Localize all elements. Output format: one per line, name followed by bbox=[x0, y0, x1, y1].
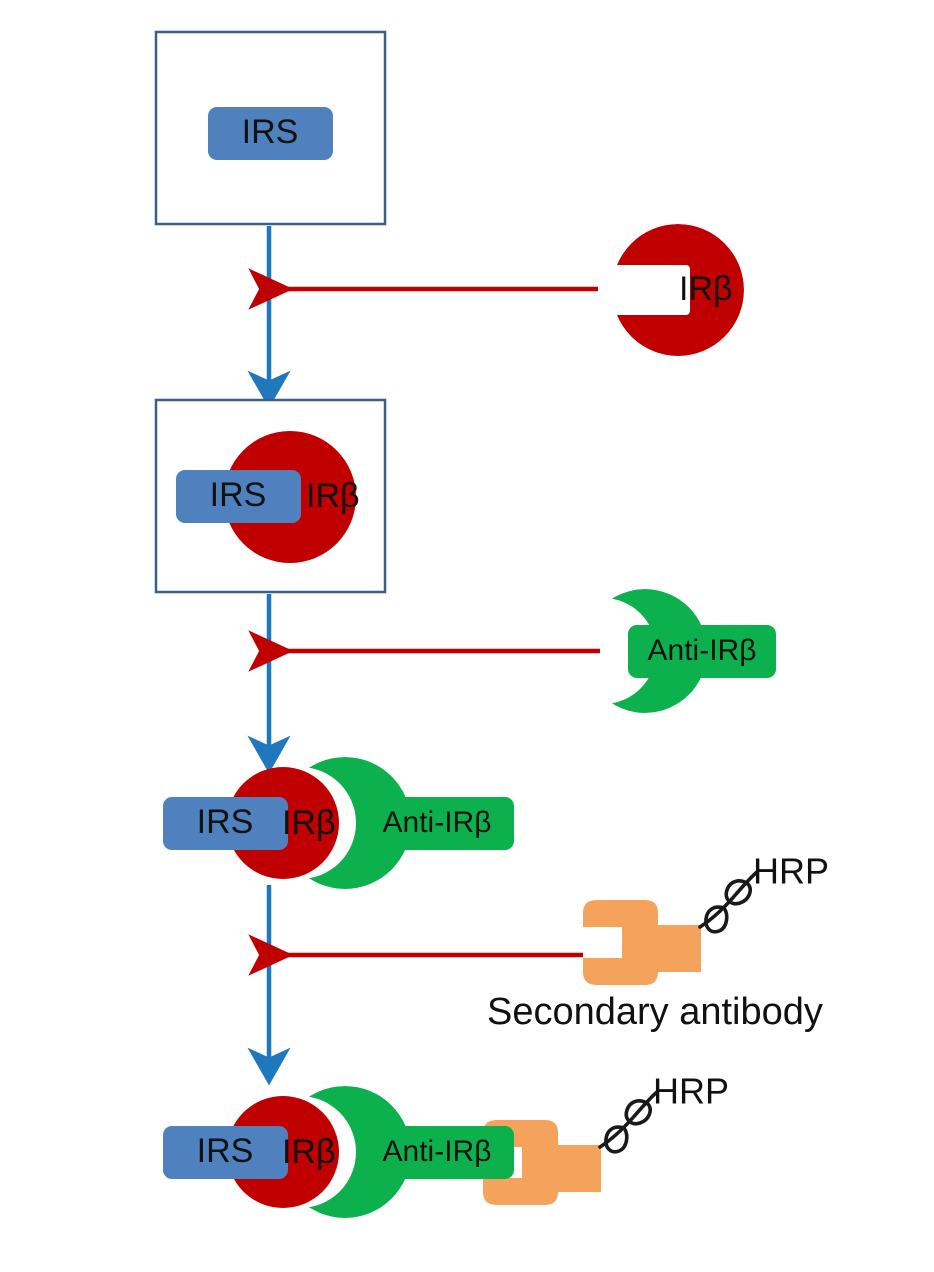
hrp-sprig-step-4 bbox=[600, 1092, 657, 1152]
secondary-antibody-reagent-group: HRP Secondary antibody bbox=[487, 851, 829, 1034]
step-3-group: IRS IRβ Anti-IRβ bbox=[163, 757, 514, 889]
irs-label-step-4: IRS bbox=[197, 1132, 254, 1170]
hrp-sprig-reagent bbox=[700, 872, 757, 932]
irs-label-step-1: IRS bbox=[242, 113, 299, 151]
secondary-antibody-tail-step-4 bbox=[550, 1145, 601, 1192]
irs-label-step-2: IRS bbox=[210, 476, 267, 514]
hrp-label-reagent: HRP bbox=[753, 851, 829, 892]
step-1-group: IRS bbox=[156, 32, 385, 224]
anti-ir-beta-label-step-4: Anti-IRβ bbox=[383, 1135, 492, 1168]
ir-beta-reagent-label: IRβ bbox=[679, 270, 733, 308]
anti-ir-beta-reagent-label: Anti-IRβ bbox=[648, 634, 757, 667]
anti-ir-beta-label-step-3: Anti-IRβ bbox=[383, 806, 492, 839]
secondary-antibody-reagent-tail bbox=[650, 925, 701, 972]
secondary-antibody-reagent-bracket bbox=[583, 900, 658, 985]
secondary-antibody-caption: Secondary antibody bbox=[487, 991, 823, 1033]
diagram-svg: IRS IRβ IRS IRβ Anti-IRβ bbox=[0, 0, 934, 1272]
figure-canvas: IRS IRβ IRS IRβ Anti-IRβ bbox=[0, 0, 934, 1272]
anti-ir-beta-reagent-group: Anti-IRβ bbox=[583, 589, 776, 713]
ir-beta-label-step-3: IRβ bbox=[282, 804, 336, 842]
irs-label-step-3: IRS bbox=[197, 803, 254, 841]
step-2-group: IRS IRβ bbox=[156, 400, 385, 592]
ir-beta-label-step-2: IRβ bbox=[306, 477, 360, 515]
step-4-group: IRS IRβ Anti-IRβ HRP bbox=[163, 1071, 729, 1218]
ir-beta-reagent-group: IRβ bbox=[612, 224, 744, 356]
hrp-label-step-4: HRP bbox=[653, 1071, 729, 1112]
ir-beta-label-step-4: IRβ bbox=[282, 1133, 336, 1171]
